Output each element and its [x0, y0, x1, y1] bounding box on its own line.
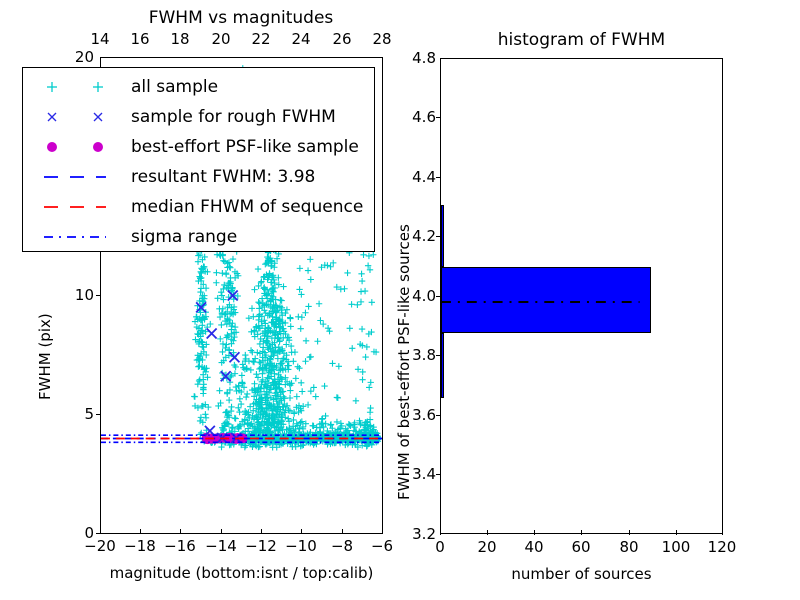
left-panel-ylabel: FWHM (pix) — [36, 313, 54, 400]
dashed-line-icon — [31, 167, 123, 187]
bottom-tick-label: −12 — [245, 537, 277, 555]
bottom-tick-label: −8 — [331, 537, 353, 555]
legend-item-median-fwhm[interactable]: median FHWM of sequence — [23, 192, 374, 222]
legend-item-resultant-fwhm[interactable]: resultant FWHM: 3.98 — [23, 162, 374, 192]
y-tick-label: 4.6 — [398, 108, 436, 126]
tick — [487, 530, 488, 535]
tick — [436, 474, 441, 475]
tick — [676, 530, 677, 535]
tick — [140, 529, 141, 534]
y-tick-label: 5 — [58, 405, 94, 423]
plus-marker-icon — [31, 77, 123, 97]
dashdot-line-icon — [31, 227, 123, 247]
y-tick-label: 20 — [58, 48, 94, 66]
top-tick-label: 22 — [251, 30, 270, 48]
top-tick-label: 24 — [291, 30, 310, 48]
y-tick-label: 4.8 — [398, 49, 436, 67]
tick — [534, 530, 535, 535]
top-tick-label: 16 — [130, 30, 149, 48]
tick — [96, 295, 101, 296]
bottom-tick-label: −16 — [164, 537, 196, 555]
x-tick-label: 100 — [662, 538, 691, 556]
bottom-tick-label: −10 — [285, 537, 317, 555]
top-tick-label: 14 — [90, 30, 109, 48]
histogram-bar — [441, 205, 444, 268]
left-panel-title: FWHM vs magnitudes — [100, 8, 382, 28]
legend-label: all sample — [131, 77, 218, 97]
bottom-tick-label: −6 — [371, 537, 393, 555]
y-tick-label: 3.2 — [398, 525, 436, 543]
tick — [301, 529, 302, 534]
tick — [722, 530, 723, 535]
top-tick-label: 20 — [211, 30, 230, 48]
tick — [436, 355, 441, 356]
right-axes-frame — [440, 58, 723, 534]
histogram-bar — [441, 267, 651, 332]
tick — [382, 529, 383, 534]
bottom-tick-label: −14 — [205, 537, 237, 555]
cross-marker-icon — [31, 107, 123, 127]
legend-label: median FHWM of sequence — [131, 197, 363, 217]
series-psf-sample — [202, 433, 248, 444]
legend-label: best-effort PSF-like sample — [131, 137, 359, 157]
legend-label: resultant FWHM: 3.98 — [131, 167, 315, 187]
tick — [440, 530, 441, 535]
tick — [96, 533, 101, 534]
dot-marker-icon — [31, 137, 123, 157]
left-panel-xlabel: magnitude (bottom:isnt / top:calib) — [100, 564, 383, 582]
top-tick-label: 28 — [372, 30, 391, 48]
tick — [436, 117, 441, 118]
histogram-bar — [441, 333, 444, 398]
x-tick-label: 60 — [571, 538, 590, 556]
top-tick-label: 18 — [170, 30, 189, 48]
right-panel-xlabel: number of sources — [440, 565, 723, 583]
tick — [221, 529, 222, 534]
series-rough-sample — [196, 291, 241, 443]
dashed-line-icon — [31, 197, 123, 217]
x-tick-label: 120 — [708, 538, 737, 556]
legend-item-psf-sample[interactable]: best-effort PSF-like sample — [23, 132, 374, 162]
legend-label: sigma range — [131, 227, 237, 247]
x-tick-label: 0 — [435, 538, 445, 556]
tick — [261, 529, 262, 534]
matplotlib-figure: FWHM vs magnitudes 14 16 18 20 22 24 26 … — [0, 0, 800, 600]
legend-label: sample for rough FWHM — [131, 107, 336, 127]
right-panel-title: histogram of FWHM — [440, 30, 723, 50]
legend: all sample sample for rough FWHM — [22, 67, 375, 252]
tick — [436, 415, 441, 416]
tick — [342, 529, 343, 534]
legend-item-rough-sample[interactable]: sample for rough FWHM — [23, 102, 374, 132]
x-tick-label: 40 — [524, 538, 543, 556]
tick — [629, 530, 630, 535]
tick — [581, 530, 582, 535]
top-tick-label: 26 — [332, 30, 351, 48]
y-tick-label: 4.4 — [398, 168, 436, 186]
tick — [436, 296, 441, 297]
legend-item-sigma-range[interactable]: sigma range — [23, 222, 374, 252]
tick — [436, 177, 441, 178]
legend-item-all-sample[interactable]: all sample — [23, 72, 374, 102]
right-panel-ylabel: FWHM of best-effort PSF-like sources — [395, 224, 413, 500]
x-tick-label: 80 — [619, 538, 638, 556]
tick — [436, 236, 441, 237]
bottom-tick-label: −18 — [124, 537, 156, 555]
tick — [96, 414, 101, 415]
x-tick-label: 20 — [477, 538, 496, 556]
tick — [180, 529, 181, 534]
y-tick-label: 10 — [58, 286, 94, 304]
reference-lines — [101, 435, 382, 442]
y-tick-label: 0 — [58, 524, 94, 542]
